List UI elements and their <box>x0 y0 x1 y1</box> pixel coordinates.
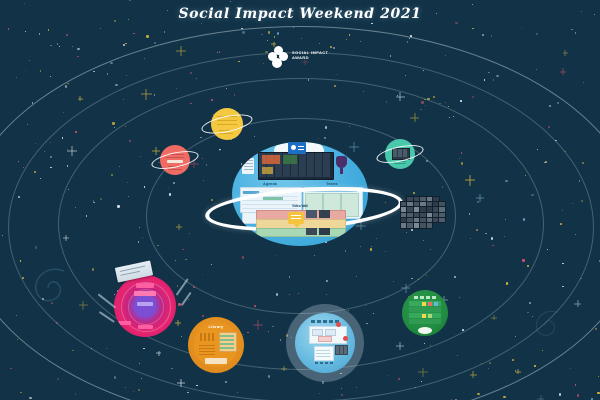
magenta-chip-bottom <box>138 325 153 329</box>
main-planet-lower: Video Wall <box>232 142 368 246</box>
star-dot <box>366 323 368 325</box>
star-dot <box>77 56 78 57</box>
star-dot <box>560 223 562 225</box>
star-dot <box>469 213 471 215</box>
star-sparkle-icon <box>410 113 419 122</box>
star-dot <box>17 339 18 340</box>
star-dot <box>529 302 531 304</box>
star-dot <box>66 34 68 36</box>
star-dot <box>144 58 145 59</box>
star-dot <box>581 200 583 202</box>
star-dot <box>115 84 117 86</box>
star-dot <box>522 259 524 261</box>
star-dot <box>193 286 195 288</box>
star-dot <box>407 41 408 42</box>
star-sparkle-icon <box>396 92 405 101</box>
star-dot <box>334 85 336 87</box>
star-dot <box>506 282 508 284</box>
green-sticky <box>434 302 438 306</box>
star-dot <box>423 70 424 71</box>
star-sparkle-icon <box>176 224 182 230</box>
speech-bubble-lines <box>291 215 301 216</box>
star-dot <box>523 218 525 220</box>
star-dot <box>460 100 462 102</box>
star-dot <box>571 29 573 31</box>
star-dot <box>211 199 213 201</box>
star-dot <box>277 32 279 34</box>
star-dot <box>20 392 22 394</box>
star-dot <box>445 102 446 103</box>
lightblue-footer <box>315 362 335 364</box>
star-dot <box>430 345 431 346</box>
video-wall-photo <box>319 228 330 235</box>
green-row <box>409 307 441 312</box>
star-dot <box>549 105 551 107</box>
star-dot <box>548 126 550 128</box>
star-sparkle-icon <box>349 142 359 152</box>
star-dot <box>129 0 130 1</box>
star-dot <box>112 122 114 124</box>
star-dot <box>575 384 577 386</box>
star-dot <box>144 186 145 187</box>
star-dot <box>534 365 536 367</box>
star-dot <box>75 393 76 394</box>
star-dot <box>488 72 490 74</box>
magenta-core <box>134 295 156 317</box>
star-dot <box>454 276 455 277</box>
star-sparkle-icon <box>63 235 69 241</box>
star-dot <box>472 96 474 98</box>
star-dot <box>272 326 274 328</box>
star-dot <box>133 391 134 392</box>
gallery-tile[interactable] <box>426 222 434 229</box>
star-dot <box>40 70 42 72</box>
star-dot <box>48 29 50 31</box>
star-sparkle-icon <box>156 351 161 356</box>
star-dot <box>531 194 533 196</box>
star-dot <box>411 278 413 280</box>
star-dot <box>491 237 493 239</box>
star-sparkle-icon <box>515 369 521 375</box>
video-wall-photo <box>306 228 317 235</box>
lightblue-node <box>312 329 323 336</box>
galaxy-spiral-left-icon <box>18 258 78 318</box>
star-dot <box>418 279 419 280</box>
lightblue-node <box>318 336 332 342</box>
label-card-line <box>120 271 140 277</box>
star-dot <box>325 126 327 128</box>
star-dot <box>356 387 357 388</box>
green-sticky <box>428 302 432 306</box>
video-wall-row-3[interactable] <box>256 228 346 237</box>
star-dot <box>25 31 26 32</box>
green-badge-oval <box>418 327 432 334</box>
star-dot <box>398 378 400 380</box>
star-dot <box>371 246 372 247</box>
star-dot <box>72 350 74 352</box>
star-dot <box>341 388 342 389</box>
star-dot <box>72 46 73 47</box>
lightblue-node <box>325 329 336 336</box>
star-sparkle-icon <box>177 379 185 387</box>
star-dot <box>138 389 140 391</box>
star-sparkle-icon <box>176 46 186 56</box>
star-dot <box>8 28 10 30</box>
star-dot <box>35 246 37 248</box>
star-dot <box>268 31 270 33</box>
star-dot <box>93 200 95 202</box>
star-dot <box>56 322 58 324</box>
star-dot <box>572 203 573 204</box>
star-dot <box>484 79 486 81</box>
top-badge-lines <box>298 146 304 147</box>
green-row <box>409 319 441 324</box>
star-sparkle-icon <box>470 371 477 378</box>
star-dot <box>405 75 406 76</box>
star-dot <box>125 126 126 127</box>
star-dot <box>51 302 53 304</box>
video-call-gallery[interactable] <box>400 196 448 240</box>
star-sparkle-icon <box>396 342 405 351</box>
speech-bubble-tail <box>294 224 300 228</box>
page-title: Social Impact Weekend 2021 <box>0 6 600 22</box>
star-dot <box>157 245 158 246</box>
star-dot <box>25 70 26 71</box>
star-sparkle-icon <box>78 96 83 101</box>
star-sparkle-icon <box>253 320 263 330</box>
star-dot <box>29 60 30 61</box>
star-dot <box>386 101 387 102</box>
magenta-chip-mid <box>134 291 156 296</box>
star-dot <box>425 105 426 106</box>
star-dot <box>459 297 460 298</box>
star-dot <box>190 103 192 105</box>
star-dot <box>182 249 184 251</box>
star-dot <box>23 167 24 168</box>
star-dot <box>100 28 101 29</box>
star-dot <box>16 77 17 78</box>
star-dot <box>559 393 561 395</box>
star-dot <box>219 150 220 151</box>
star-dot <box>119 166 120 167</box>
star-dot <box>154 94 156 96</box>
star-dot <box>537 149 538 150</box>
star-dot <box>268 375 270 377</box>
star-dot <box>164 31 166 33</box>
star-dot <box>42 298 44 300</box>
star-dot <box>427 98 429 100</box>
star-dot <box>580 278 582 280</box>
star-dot <box>472 28 474 30</box>
star-dot <box>230 1 231 2</box>
star-dot <box>22 277 24 279</box>
star-sparkle-icon <box>67 146 77 156</box>
magenta-planet[interactable] <box>114 275 176 337</box>
lightblue-planet[interactable] <box>295 313 355 373</box>
video-wall-photo <box>319 210 330 218</box>
green-sticky <box>422 314 426 318</box>
star-dot <box>211 99 213 101</box>
social-impact-award-logo: SOCIAL IMPACT AWARD <box>268 44 338 72</box>
orange-rows-left <box>199 345 215 355</box>
star-sparkle-icon <box>79 301 88 310</box>
star-dot <box>242 31 244 33</box>
star-sparkle-icon <box>563 50 569 56</box>
star-dot <box>57 43 58 44</box>
star-dot <box>461 152 463 154</box>
star-dot <box>461 162 463 164</box>
star-dot <box>143 348 144 349</box>
star-dot <box>341 394 343 396</box>
star-dot <box>393 281 394 282</box>
star-dot <box>570 368 572 370</box>
star-dot <box>189 233 190 234</box>
star-dot <box>544 162 545 163</box>
star-dot <box>420 109 421 110</box>
star-dot <box>477 201 479 203</box>
flower-petals-icon <box>268 46 290 68</box>
star-dot <box>75 131 77 133</box>
star-dot <box>373 313 374 314</box>
star-dot <box>175 260 176 261</box>
star-dot <box>18 196 20 198</box>
star-dot <box>123 44 125 46</box>
star-dot <box>536 33 538 35</box>
orange-chart <box>200 333 216 341</box>
star-dot <box>146 35 148 37</box>
star-dot <box>536 69 537 70</box>
star-dot <box>111 174 113 176</box>
star-sparkle-icon <box>401 284 410 293</box>
star-dot <box>476 229 478 231</box>
logo-line-2: AWARD <box>292 55 309 60</box>
star-dot <box>133 33 134 34</box>
star-dot <box>472 4 473 5</box>
star-dot <box>67 165 69 167</box>
star-dot <box>598 376 599 377</box>
star-dot <box>445 55 446 56</box>
star-dot <box>496 75 498 77</box>
video-wall-photo <box>306 210 317 218</box>
star-dot <box>595 328 597 330</box>
green-title <box>414 296 436 299</box>
star-dot <box>190 72 192 74</box>
star-dot <box>577 394 579 396</box>
star-dot <box>360 246 361 247</box>
star-sparkle-icon <box>491 315 496 320</box>
star-dot <box>34 171 36 173</box>
lightblue-photo-cells <box>336 346 347 354</box>
star-dot <box>326 280 328 282</box>
star-sparkle-icon <box>152 147 160 155</box>
poster-canvas: Social Impact Weekend 2021 SOCIAL IMPACT… <box>0 0 600 400</box>
star-dot <box>521 28 522 29</box>
star-dot <box>117 205 119 207</box>
star-dot <box>140 156 141 157</box>
star-dot <box>268 331 269 332</box>
lightblue-pin-icon <box>343 336 348 341</box>
star-dot <box>410 35 412 37</box>
star-sparkle-icon <box>465 175 475 185</box>
star-dot <box>525 175 526 176</box>
star-sparkle-icon <box>418 368 427 377</box>
magenta-chip-top <box>136 283 154 288</box>
star-dot <box>433 96 435 98</box>
star-dot <box>24 3 25 4</box>
star-sparkle-icon <box>560 68 566 74</box>
lightblue-pin-icon <box>336 322 341 327</box>
star-dot <box>597 392 599 394</box>
star-dot <box>564 151 566 153</box>
star-dot <box>562 263 564 265</box>
star-dot <box>65 85 67 87</box>
orange-planet-label: Library <box>188 324 244 329</box>
star-dot <box>129 140 131 142</box>
magenta-chip-core <box>137 302 153 306</box>
star-dot <box>293 27 294 28</box>
star-dot <box>176 88 177 89</box>
green-sticky <box>422 302 426 306</box>
galaxy-spiral-right-icon <box>520 300 570 350</box>
star-dot <box>370 248 372 250</box>
orange-footer-card <box>205 358 227 364</box>
star-dot <box>50 45 52 47</box>
star-sparkle-icon <box>574 300 580 306</box>
star-dot <box>421 101 423 103</box>
star-dot <box>225 381 227 383</box>
star-dot <box>512 359 514 361</box>
star-sparkle-icon <box>141 89 152 100</box>
star-sparkle-icon <box>281 366 286 371</box>
star-dot <box>62 137 63 138</box>
star-dot <box>154 42 155 43</box>
star-dot <box>110 62 112 64</box>
star-dot <box>575 32 577 34</box>
orange-planet[interactable]: Library <box>188 317 244 373</box>
star-dot <box>10 368 12 370</box>
star-dot <box>39 33 41 35</box>
speech-bubble-icon <box>288 212 304 224</box>
star-dot <box>583 82 584 83</box>
star-dot <box>114 376 116 378</box>
green-sticky <box>428 314 432 318</box>
star-dot <box>371 23 372 24</box>
green-planet[interactable] <box>402 290 448 336</box>
star-dot <box>345 250 346 251</box>
lightblue-title <box>311 320 339 323</box>
star-dot <box>125 43 127 45</box>
magenta-chip-left <box>118 321 131 325</box>
gallery-tile[interactable] <box>438 217 446 224</box>
star-sparkle-icon <box>175 320 181 326</box>
star-dot <box>241 28 243 30</box>
star-dot <box>92 268 94 270</box>
star-dot <box>385 251 386 252</box>
star-dot <box>254 305 256 307</box>
star-dot <box>29 397 31 399</box>
star-dot <box>201 23 202 24</box>
star-dot <box>77 48 79 50</box>
star-dot <box>59 46 61 48</box>
video-wall-label: Video Wall <box>270 204 330 208</box>
star-dot <box>482 34 484 36</box>
star-dot <box>242 256 244 258</box>
star-dot <box>503 396 505 398</box>
star-dot <box>289 276 290 277</box>
star-dot <box>462 329 464 331</box>
star-sparkle-icon <box>537 395 544 400</box>
lightblue-doc-lines <box>316 348 330 357</box>
star-dot <box>128 196 129 197</box>
star-dot <box>491 35 493 37</box>
orange-list-rows <box>220 333 234 349</box>
star-dot <box>50 76 51 77</box>
star-dot <box>477 393 479 395</box>
top-badge-avatar <box>291 145 296 150</box>
star-dot <box>237 392 238 393</box>
star-dot <box>57 378 59 380</box>
